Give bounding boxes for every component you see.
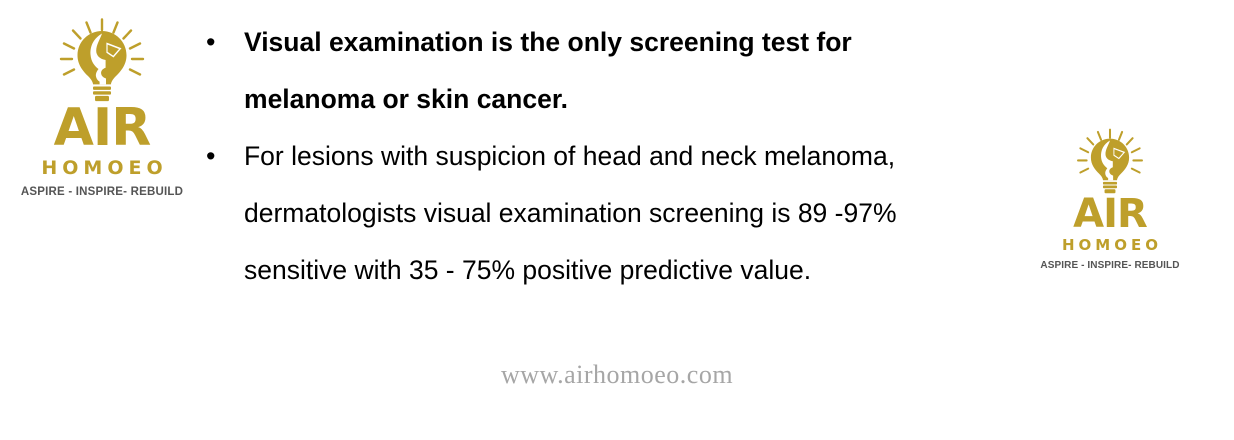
bullet-item: • Visual examination is the only screeni… bbox=[196, 14, 1024, 128]
bullet-marker-icon: • bbox=[196, 128, 244, 185]
slide-canvas: AIR HOMOEO ASPIRE - INSPIRE- REBUILD • V… bbox=[0, 0, 1234, 440]
bullet-marker-icon: • bbox=[196, 14, 244, 71]
lightbulb-graduate-icon bbox=[1064, 128, 1156, 196]
bullet-item: • For lesions with suspicion of head and… bbox=[196, 128, 1024, 299]
brand-tagline: ASPIRE - INSPIRE- REBUILD bbox=[21, 187, 183, 199]
brand-subword: HOMOEO bbox=[36, 159, 167, 178]
bullet-line: sensitive with 35 - 75% positive predict… bbox=[244, 242, 1024, 299]
lightbulb-graduate-icon bbox=[43, 18, 161, 104]
bullet-line: melanoma or skin cancer. bbox=[244, 71, 1024, 128]
brand-wordmark: AIR bbox=[1073, 194, 1147, 234]
bullet-line: dermatologists visual examination screen… bbox=[244, 185, 1024, 242]
bullet-line: Visual examination is the only screening… bbox=[244, 14, 1024, 71]
brand-logo-left: AIR HOMOEO ASPIRE - INSPIRE- REBUILD bbox=[12, 18, 192, 199]
bullet-text: Visual examination is the only screening… bbox=[244, 14, 1024, 128]
bullet-line: For lesions with suspicion of head and n… bbox=[244, 128, 1024, 185]
brand-subword: HOMOEO bbox=[1058, 238, 1162, 253]
brand-logo-right: AIR HOMOEO ASPIRE - INSPIRE- REBUILD bbox=[1022, 128, 1198, 271]
slide-body: • Visual examination is the only screeni… bbox=[196, 14, 1024, 299]
brand-tagline: ASPIRE - INSPIRE- REBUILD bbox=[1040, 261, 1179, 271]
footer-website-url[interactable]: www.airhomoeo.com bbox=[0, 360, 1234, 390]
brand-wordmark: AIR bbox=[54, 102, 151, 154]
bullet-text: For lesions with suspicion of head and n… bbox=[244, 128, 1024, 299]
